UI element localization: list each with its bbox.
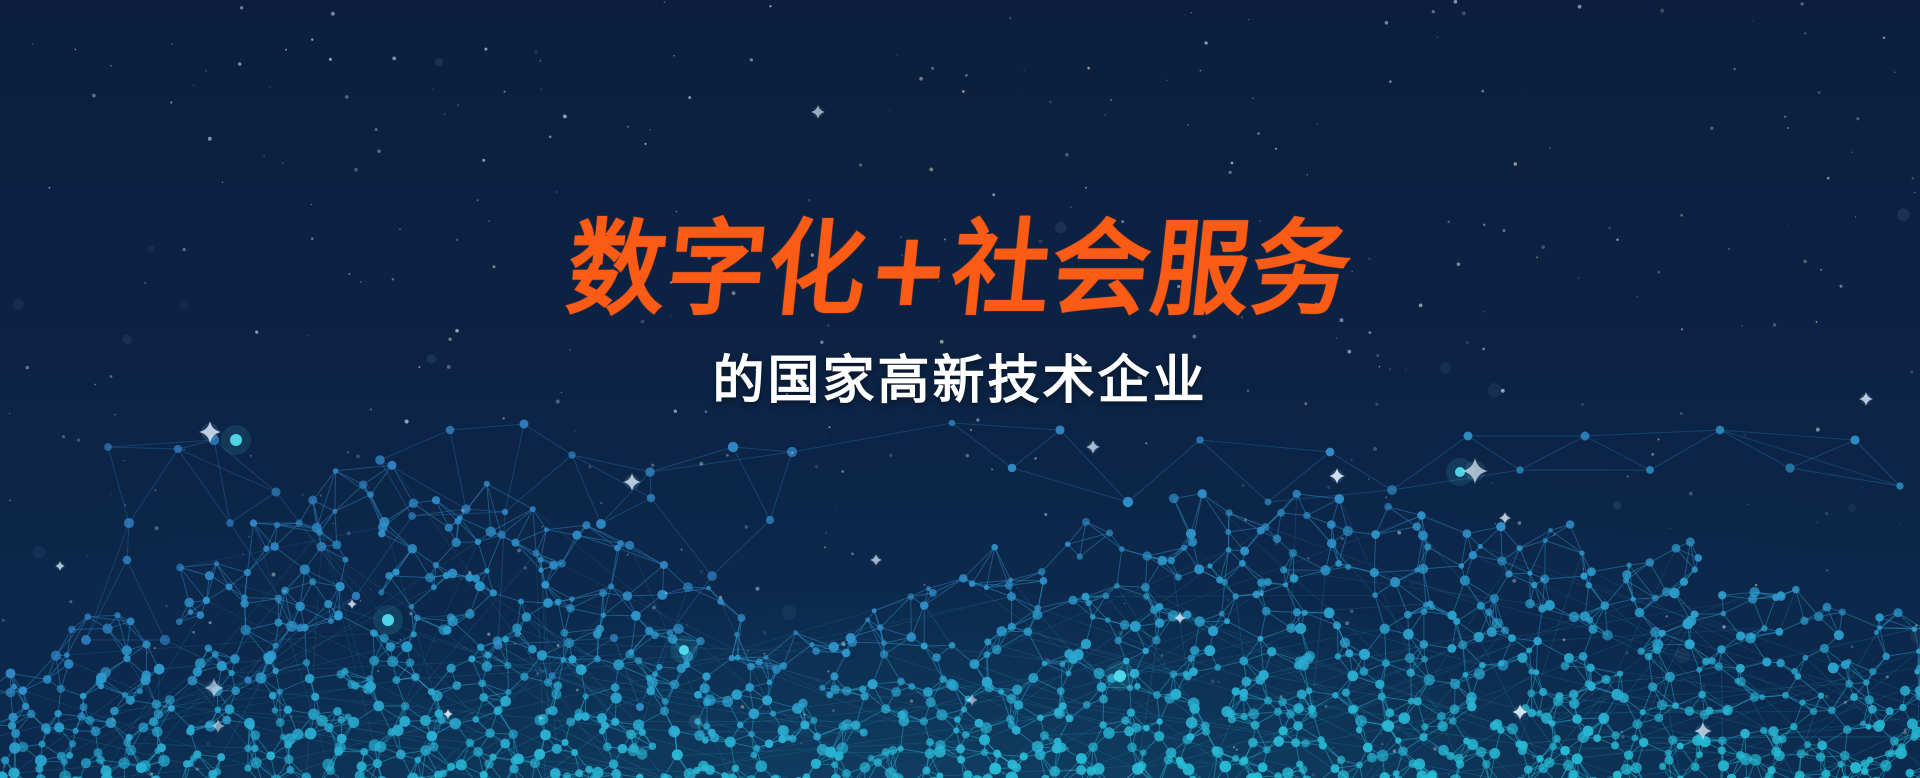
page-title: 数字化+社会服务 — [562, 215, 1358, 327]
page-subtitle: 的国家高新技术企业 — [0, 338, 1920, 413]
banner-hero: 数字化+社会服务 的国家高新技术企业 — [0, 0, 1920, 778]
headline-block: 数字化+社会服务 的国家高新技术企业 — [0, 218, 1920, 413]
